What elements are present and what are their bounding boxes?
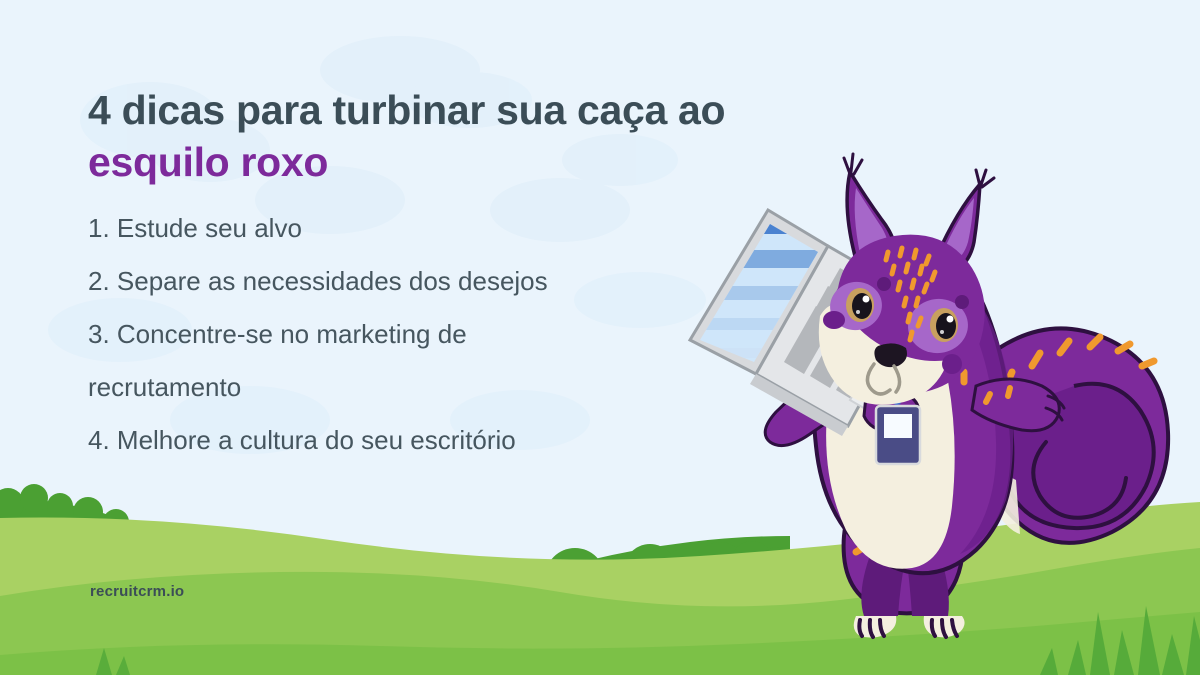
cheek-spot-side (955, 295, 969, 309)
eye-right (930, 308, 958, 342)
tips-list: 1. Estude seu alvo 2. Separe as necessid… (88, 202, 728, 467)
cheek-spot-lower (942, 354, 962, 374)
page-title: 4 dicas para turbinar sua caça ao esquil… (88, 84, 728, 188)
slide-canvas: 4 dicas para turbinar sua caça ao esquil… (0, 0, 1200, 675)
cheek-spot-left (823, 311, 845, 329)
tip-item-3: 3. Concentre-se no marketing de recrutam… (88, 308, 728, 414)
ear-tuft-right (976, 170, 994, 187)
headline-line-2-accent: esquilo roxo (88, 136, 728, 188)
text-content-block: 4 dicas para turbinar sua caça ao esquil… (88, 84, 728, 467)
tip-item-1: 1. Estude seu alvo (88, 202, 728, 255)
headline-line-1: 4 dicas para turbinar sua caça ao (88, 87, 725, 133)
cheek-spot-upper (877, 277, 891, 291)
eye-left (846, 288, 874, 322)
ear-tuft-left (844, 154, 862, 174)
tip-item-2: 2. Separe as necessidades dos desejos (88, 255, 728, 308)
squirrel-mascot-illustration (660, 150, 1180, 620)
tip-item-4: 4. Melhore a cultura do seu escritório (88, 414, 728, 467)
brand-logo-text: recruitcrm.io (90, 583, 184, 600)
